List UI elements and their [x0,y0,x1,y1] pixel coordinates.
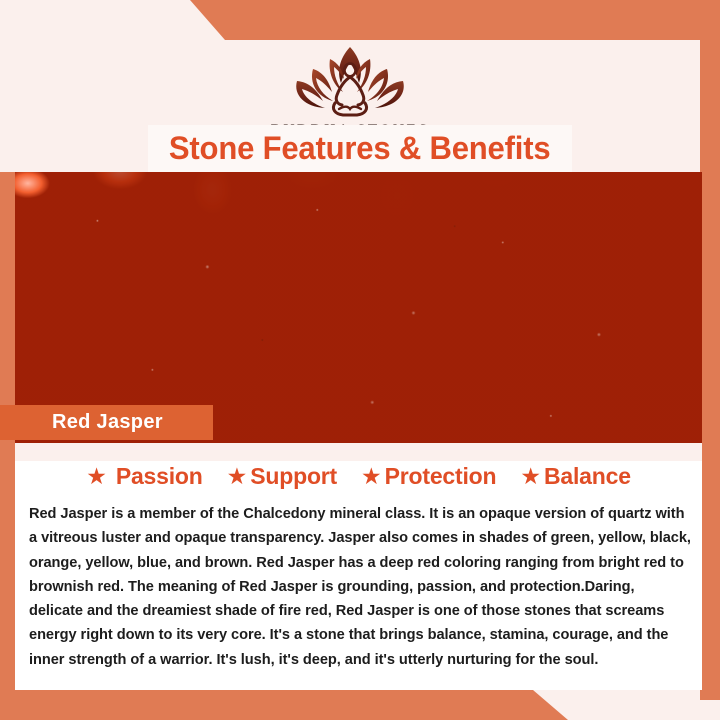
stone-name-banner: Red Jasper [0,405,213,440]
benefit-keywords: ★ Passion ★ Support ★ Protection ★ Balan… [15,463,702,490]
keyword-label: Support [250,463,337,490]
star-icon: ★ [86,465,107,488]
keyword-label: Protection [385,463,497,490]
bottom-orange-band [0,690,720,720]
star-icon: ★ [520,465,541,488]
keyword-balance: ★ Balance [520,463,630,490]
keyword-label: Balance [544,463,631,490]
page-title-panel: Stone Features & Benefits [148,125,572,172]
page-title: Stone Features & Benefits [169,130,551,167]
stone-description-text: Red Jasper is a member of the Chalcedony… [29,502,691,672]
star-icon: ★ [361,465,382,488]
red-jasper-stones-photo [15,172,702,443]
keyword-label: Passion [116,463,203,490]
keyword-support: ★ Support [227,463,337,490]
description-panel: ★ Passion ★ Support ★ Protection ★ Balan… [15,443,702,690]
stone-texture [15,172,702,443]
lotus-meditating-buddha-icon [275,43,425,121]
keyword-passion: ★ Passion [86,463,202,490]
right-orange-band [700,0,720,700]
panel-top-tint [15,443,702,461]
stone-features-infographic: BUDDHA STONES Stone Features & Benefits … [0,0,720,720]
top-orange-band [0,0,720,40]
keyword-protection: ★ Protection [361,463,496,490]
star-icon: ★ [227,465,248,488]
stone-name-label: Red Jasper [52,411,163,434]
